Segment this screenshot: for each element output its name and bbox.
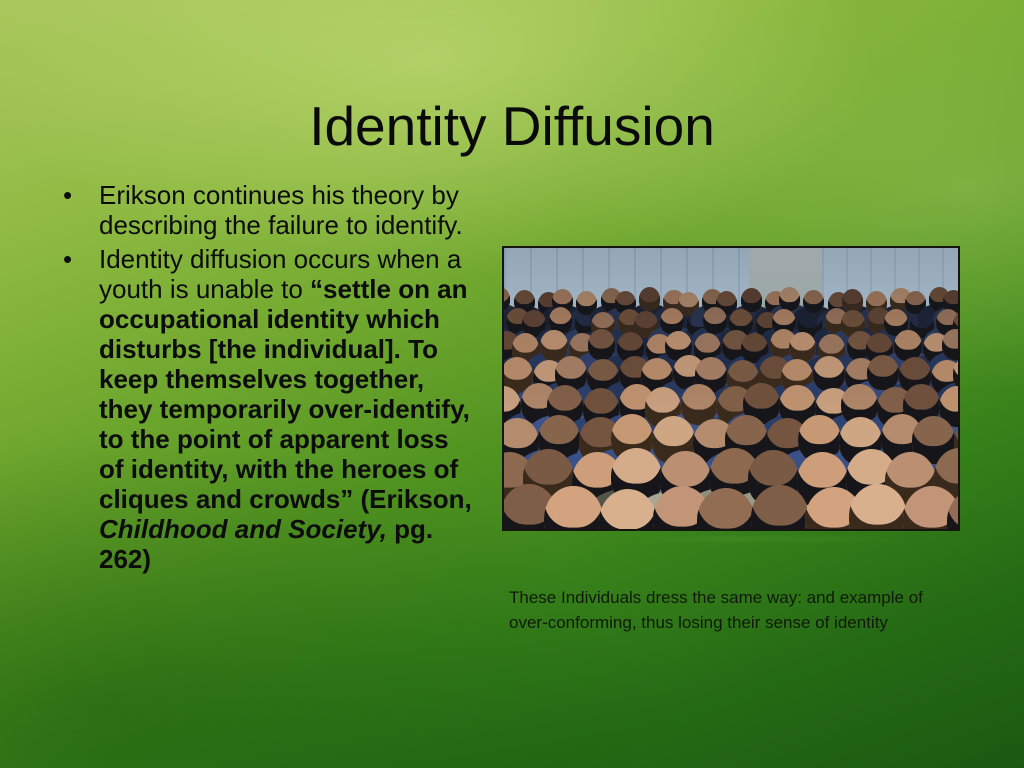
crowd-in-uniform-photo bbox=[502, 246, 960, 531]
bullet-1-text: Erikson continues his theory by describi… bbox=[99, 180, 463, 240]
bullet-item-1: Erikson continues his theory by describi… bbox=[55, 180, 480, 240]
photo-caption: These Individuals dress the same way: an… bbox=[509, 585, 949, 635]
body-bullet-list: Erikson continues his theory by describi… bbox=[55, 180, 480, 578]
presentation-slide: Identity Diffusion Erikson continues his… bbox=[0, 0, 1024, 768]
photo-crowd-figures bbox=[504, 248, 958, 529]
bullet-item-2: Identity diffusion occurs when a youth i… bbox=[55, 244, 480, 574]
slide-title: Identity Diffusion bbox=[0, 95, 1024, 157]
bullet-2-text: Identity diffusion occurs when a youth i… bbox=[99, 244, 472, 574]
photo-content bbox=[504, 248, 958, 529]
